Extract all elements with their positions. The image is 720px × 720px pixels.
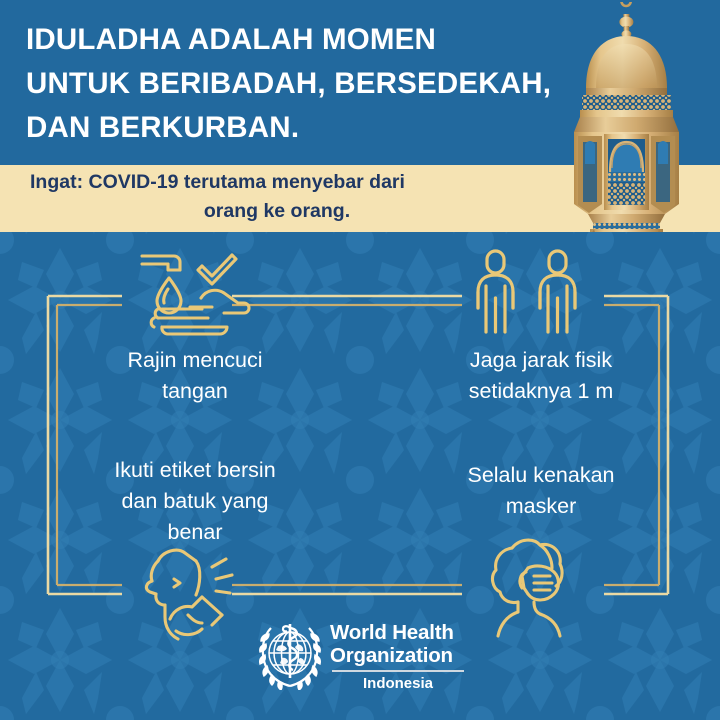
caption-sneeze-line-1: Ikuti etiket bersin [50, 455, 340, 486]
headline-line-2: UNTUK BERIBADAH, BERSEDEKAH, [26, 62, 566, 106]
caption-cough-etiquette: Ikuti etiket bersin dan batuk yang benar [50, 455, 340, 548]
caption-mask-line-1: Selalu kenakan [396, 460, 686, 491]
caption-sneeze-line-3: benar [50, 517, 340, 548]
caption-physical-distance: Jaga jarak fisik setidaknya 1 m [396, 345, 686, 407]
who-wordmark: World Health Organization [330, 622, 466, 667]
page-title: IDULADHA ADALAH MOMEN UNTUK BERIBADAH, B… [26, 18, 566, 150]
who-country-label: Indonesia [330, 674, 466, 694]
who-logo: World Health Organization Indonesia [256, 620, 466, 700]
caption-wash-line-1: Rajin mencuci [50, 345, 340, 376]
who-wordmark-line-2: Organization [330, 645, 466, 668]
caption-sneeze-line-2: dan batuk yang [50, 486, 340, 517]
who-emblem-icon [256, 622, 324, 690]
caption-mask-line-2: masker [396, 491, 686, 522]
headline-line-3: DAN BERKURBAN. [26, 106, 566, 150]
who-divider [332, 670, 464, 672]
physical-distancing-icon [466, 246, 590, 338]
caption-wash-line-2: tangan [50, 376, 340, 407]
reminder-line-2: orang ke orang. [0, 197, 530, 226]
sneeze-etiquette-icon [130, 545, 254, 643]
caption-wash-hands: Rajin mencuci tangan [50, 345, 340, 407]
reminder-line-1: Ingat: COVID-19 terutama menyebar dari [0, 168, 530, 197]
caption-dist-line-2: setidaknya 1 m [396, 376, 686, 407]
handwashing-icon [128, 248, 256, 340]
reminder-text: Ingat: COVID-19 terutama menyebar dari o… [0, 168, 530, 226]
who-wordmark-line-1: World Health [330, 622, 466, 645]
caption-wear-mask: Selalu kenakan masker [396, 460, 686, 522]
lantern-icon [552, 2, 702, 232]
headline-line-1: IDULADHA ADALAH MOMEN [26, 18, 566, 62]
poster-root: IDULADHA ADALAH MOMEN UNTUK BERIBADAH, B… [0, 0, 720, 720]
caption-dist-line-1: Jaga jarak fisik [396, 345, 686, 376]
face-mask-icon [476, 532, 596, 640]
